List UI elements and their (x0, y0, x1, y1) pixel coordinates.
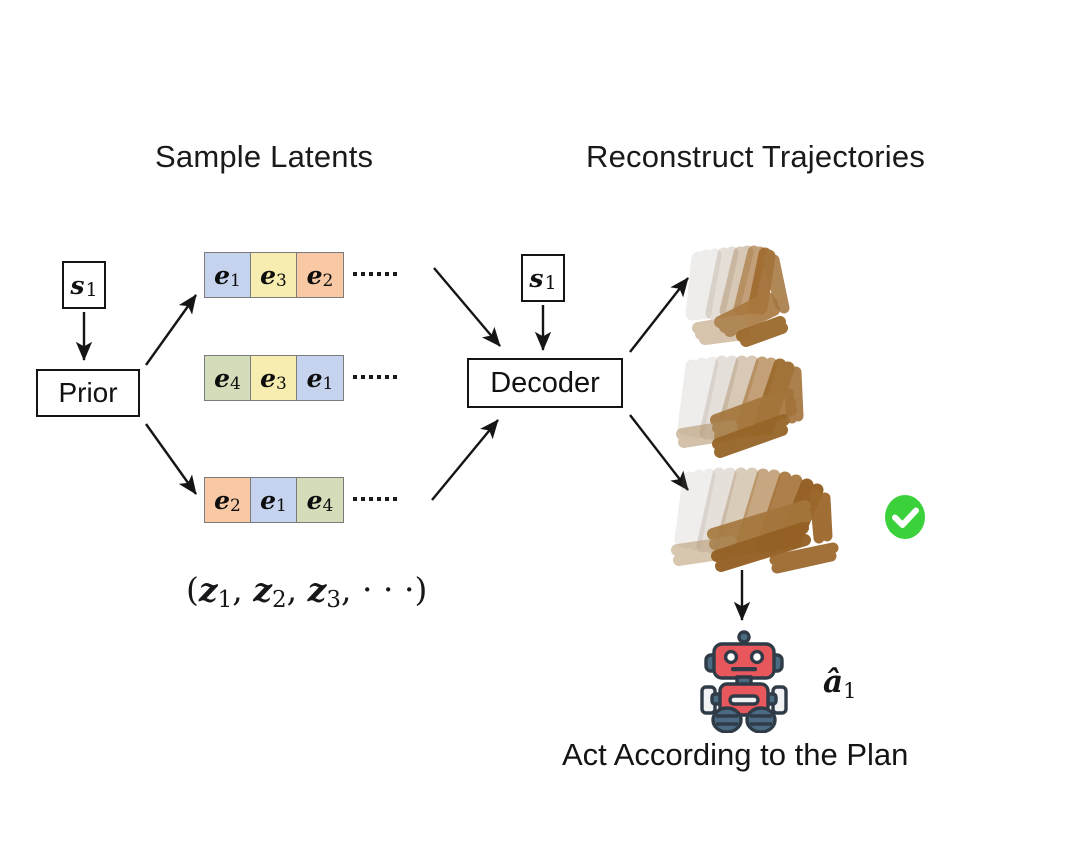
code-cell[interactable]: e1 (205, 253, 251, 297)
sequence-ellipsis (353, 272, 397, 276)
section-title-reconstruct-trajectories: Reconstruct Trajectories (586, 139, 925, 175)
code-symbol: e (260, 261, 276, 290)
code-cell[interactable]: e2 (205, 478, 251, 522)
code-subscript: 3 (276, 271, 287, 291)
reconstructed-trajectory-1[interactable] (668, 218, 848, 348)
state-box-right: s1 (521, 254, 565, 302)
arrow-sequence-1-to-decoder (434, 268, 500, 346)
latent-sequence-3[interactable]: e2 e1 e4 (204, 477, 344, 523)
code-cell[interactable]: e1 (297, 356, 343, 400)
prior-node[interactable]: Prior (36, 369, 140, 417)
tuple-ellipsis: · · · (362, 570, 414, 609)
state-subscript-left: 1 (85, 279, 97, 301)
tuple-subscript: 3 (326, 587, 341, 613)
arrow-prior-to-sequence-1 (146, 295, 196, 365)
latent-tuple-label: (z1, z2, z3, · · ·) (186, 570, 427, 609)
latent-sequence-2[interactable]: e4 e3 e1 (204, 355, 344, 401)
arrow-layer (0, 0, 1080, 858)
code-cell[interactable]: e4 (297, 478, 343, 522)
tuple-symbol: z (253, 570, 272, 609)
code-cell[interactable]: e2 (297, 253, 343, 297)
code-subscript: 2 (323, 271, 334, 291)
tuple-close-paren: ) (414, 570, 427, 609)
code-subscript: 4 (323, 496, 334, 516)
section-title-sample-latents: Sample Latents (155, 139, 373, 175)
state-box-left: s1 (62, 261, 106, 309)
arrow-prior-to-sequence-3 (146, 424, 196, 494)
arrow-sequence-3-to-decoder (432, 420, 498, 500)
predicted-action-label: â1 (823, 664, 856, 700)
code-cell[interactable]: e1 (251, 478, 297, 522)
code-symbol: e (260, 364, 276, 393)
state-symbol-left: s (70, 271, 84, 300)
action-subscript: 1 (843, 679, 856, 703)
code-symbol: e (214, 364, 230, 393)
code-subscript: 4 (230, 374, 241, 394)
tuple-symbol: z (199, 570, 218, 609)
tuple-symbol: z (308, 570, 327, 609)
code-symbol: e (214, 261, 230, 290)
prior-label: Prior (58, 377, 117, 409)
code-cell[interactable]: e3 (251, 356, 297, 400)
code-symbol: e (214, 486, 230, 515)
code-subscript: 2 (230, 496, 241, 516)
caption-act-according-to-plan: Act According to the Plan (562, 737, 908, 773)
code-symbol: e (260, 486, 276, 515)
robot-icon (690, 625, 798, 733)
reconstructed-trajectory-3[interactable] (655, 456, 870, 584)
action-symbol: â (823, 664, 843, 700)
code-subscript: 1 (323, 374, 334, 394)
state-symbol-right: s (529, 264, 543, 293)
code-symbol: e (307, 364, 323, 393)
figure-canvas: Sample Latents Reconstruct Trajectories … (0, 0, 1080, 858)
code-subscript: 3 (276, 374, 287, 394)
latent-sequence-1[interactable]: e1 e3 e2 (204, 252, 344, 298)
tuple-subscript: 2 (272, 587, 287, 613)
tuple-open-paren: ( (186, 570, 199, 609)
state-subscript-right: 1 (544, 272, 556, 294)
code-subscript: 1 (276, 496, 287, 516)
decoder-node[interactable]: Decoder (467, 358, 623, 408)
check-icon (883, 494, 927, 540)
code-subscript: 1 (230, 271, 241, 291)
sequence-ellipsis (353, 375, 397, 379)
code-symbol: e (307, 486, 323, 515)
reconstructed-trajectory-2[interactable] (660, 342, 860, 470)
tuple-subscript: 1 (218, 587, 233, 613)
sequence-ellipsis (353, 497, 397, 501)
decoder-label: Decoder (490, 367, 600, 400)
code-cell[interactable]: e3 (251, 253, 297, 297)
code-cell[interactable]: e4 (205, 356, 251, 400)
code-symbol: e (307, 261, 323, 290)
